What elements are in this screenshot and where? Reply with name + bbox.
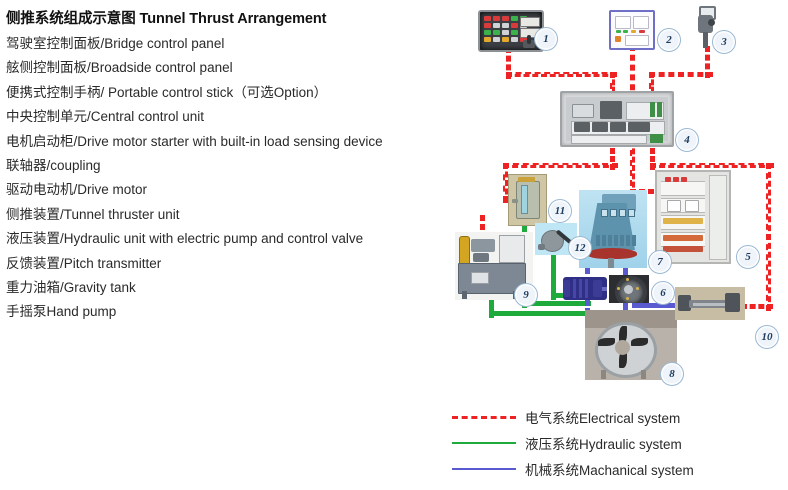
drive-motor-shaft: [608, 258, 614, 268]
central-control-unit[interactable]: [560, 91, 674, 147]
hpu-electric-pump: [471, 239, 495, 252]
bridge-control-panel[interactable]: [478, 10, 544, 52]
cabinet-device-c: [681, 177, 687, 182]
elec-line-pitch-in: [741, 304, 773, 309]
hydraulic-line-swatch: [452, 442, 516, 444]
component-item-4: 中央控制单元/Central control unit: [6, 105, 458, 129]
elec-line-cabinet-down: [766, 163, 771, 311]
callout-7[interactable]: 7: [648, 250, 672, 274]
mechanical-system-label: 机械系统Machanical system: [525, 459, 694, 479]
component-item-8: 侧推装置/Tunnel thruster unit: [6, 203, 458, 227]
callout-8[interactable]: 8: [660, 362, 684, 386]
legend-row-mechanical: 机械系统Machanical system: [452, 456, 788, 482]
motor-fin-a: [573, 279, 576, 298]
component-item-7: 驱动电动机/Drive motor: [6, 178, 458, 202]
hand-pump-port: [538, 244, 545, 250]
elec-line-ccu-out-b: [630, 140, 635, 196]
pitch-transmitter[interactable]: [675, 287, 745, 320]
bridge-panel-joystick[interactable]: [523, 40, 535, 48]
coupling-bolt-b: [636, 287, 639, 290]
tunnel-support-right: [641, 370, 646, 379]
cabinet-rail-1: [661, 181, 705, 196]
cabinet-terminal-strip-3: [663, 246, 703, 252]
callout-9[interactable]: 9: [514, 283, 538, 307]
callout-11[interactable]: 11: [548, 199, 572, 223]
pitch-body-right: [725, 293, 740, 312]
broadside-control-panel[interactable]: [609, 10, 655, 50]
tank-outlet: [512, 199, 518, 203]
coupling[interactable]: [609, 275, 649, 303]
component-item-9: 液压装置/Hydraulic unit with electric pump a…: [6, 227, 458, 251]
cabinet-device-a: [665, 177, 671, 182]
ccu-breaker-1: [574, 122, 590, 132]
hpu-control-box[interactable]: [499, 235, 525, 263]
elec-line-ccu-to-tank-h: [503, 163, 618, 168]
ccu-relay-a: [572, 104, 594, 118]
propeller-hub: [615, 340, 630, 355]
drive-motor-vents: [601, 209, 635, 217]
hyd-line-hpu-in: [489, 311, 591, 316]
hpu-accumulator: [459, 236, 470, 266]
stick-cable: [703, 32, 708, 48]
cabinet-device-b: [673, 177, 679, 182]
motor-fin-c: [585, 279, 588, 298]
callout-6[interactable]: 6: [651, 281, 675, 305]
mech-line-tunnel-to-pitch: [632, 303, 680, 308]
coupling-bolt-c: [626, 297, 629, 300]
component-item-10: 反馈装置/Pitch transmitter: [6, 252, 458, 276]
ccu-plc-module: [600, 101, 622, 119]
component-item-3: 便携式控制手柄/ Portable control stick（可选Option…: [6, 81, 458, 105]
propeller-blade-4: [598, 338, 615, 346]
ccu-green-module-b: [657, 102, 662, 117]
coupling-hub: [624, 285, 633, 294]
drive-motor[interactable]: [579, 190, 647, 268]
callout-5[interactable]: 5: [736, 245, 760, 269]
propeller-blade-2: [631, 338, 648, 346]
ccu-terminal-row-lower: [571, 135, 647, 144]
cabinet-contactor-2: [685, 200, 699, 212]
legend-row-hydraulic: 液压系统Hydraulic system: [452, 430, 788, 456]
ccu-breaker-3: [610, 122, 626, 132]
tank-body: [516, 181, 540, 219]
broadside-led-c: [631, 30, 636, 33]
gravity-tank[interactable]: [508, 174, 547, 226]
callout-10[interactable]: 10: [755, 325, 779, 349]
legend-row-electrical: 电气系统Electrical system: [452, 404, 788, 430]
ccu-green-module-a: [650, 102, 655, 117]
component-item-2: 舷侧控制面板/Broadside control panel: [6, 56, 458, 80]
broadside-window-left: [615, 16, 631, 29]
coupling-bolt-a: [626, 278, 629, 281]
drive-motor-cooling-fins: [596, 235, 636, 246]
page-title: 侧推系统组成示意图 Tunnel Thrust Arrangement: [6, 6, 458, 32]
tunnel-support-left: [601, 370, 606, 379]
cabinet-contactor-1: [667, 200, 681, 212]
motor-end-cap-left: [563, 280, 570, 297]
coupling-bolt-d: [617, 287, 620, 290]
bridge-panel-display-top: [520, 17, 540, 27]
stick-knob[interactable]: [708, 19, 715, 26]
drive-motor-starter[interactable]: [655, 170, 731, 264]
component-item-5: 电机启动柜/Drive motor starter with built-in …: [6, 130, 458, 154]
broadside-window-right: [633, 16, 649, 29]
ccu-green-terminal: [650, 134, 663, 143]
callout-12[interactable]: 12: [568, 236, 592, 260]
callout-2[interactable]: 2: [657, 28, 681, 52]
elec-line-ccu-to-cab-h: [650, 163, 774, 168]
callout-4[interactable]: 4: [675, 128, 699, 152]
motor-shaft: [602, 287, 607, 291]
cabinet-terminal-strip-1: [663, 218, 703, 224]
pitch-rod: [693, 303, 725, 306]
component-item-11: 重力油箱/Gravity tank: [6, 276, 458, 300]
callout-3[interactable]: 3: [712, 30, 736, 54]
cabinet-door[interactable]: [709, 175, 727, 260]
electrical-system-label: 电气系统Electrical system: [525, 407, 680, 427]
broadside-led-a: [616, 30, 621, 33]
hydraulic-system-label: 液压系统Hydraulic system: [525, 433, 682, 453]
component-item-1: 驾驶室控制面板/Bridge control panel: [6, 32, 458, 56]
hpu-valve-block: [473, 253, 489, 262]
broadside-keypad[interactable]: [625, 35, 649, 46]
broadside-led-b: [623, 30, 628, 33]
electrical-line-swatch: [452, 416, 516, 419]
broadside-key-orange[interactable]: [615, 36, 621, 42]
callout-1[interactable]: 1: [534, 27, 558, 51]
system-diagram: 1 2 3 4: [455, 0, 788, 400]
elec-line-panel3-left: [649, 72, 713, 77]
drive-motor-assembly[interactable]: [563, 277, 607, 300]
system-legend: 电气系统Electrical system 液压系统Hydraulic syst…: [452, 404, 788, 482]
ccu-breaker-2: [592, 122, 608, 132]
component-item-6: 联轴器/coupling: [6, 154, 458, 178]
motor-end-cap-right: [593, 280, 602, 297]
tank-cap: [518, 177, 535, 182]
cabinet-terminal-strip-2: [663, 235, 703, 241]
motor-fin-b: [579, 279, 582, 298]
elec-line-panel1-right: [506, 72, 617, 77]
mechanical-line-swatch: [452, 468, 516, 470]
component-item-12: 手摇泵Hand pump: [6, 300, 458, 324]
component-list: 侧推系统组成示意图 Tunnel Thrust Arrangement 驾驶室控…: [6, 6, 458, 325]
tank-sight-glass: [521, 185, 528, 214]
broadside-led-d: [639, 30, 645, 33]
hpu-leg-left: [462, 291, 467, 299]
ccu-breaker-4: [628, 122, 650, 132]
hpu-nameplate: [471, 272, 489, 284]
